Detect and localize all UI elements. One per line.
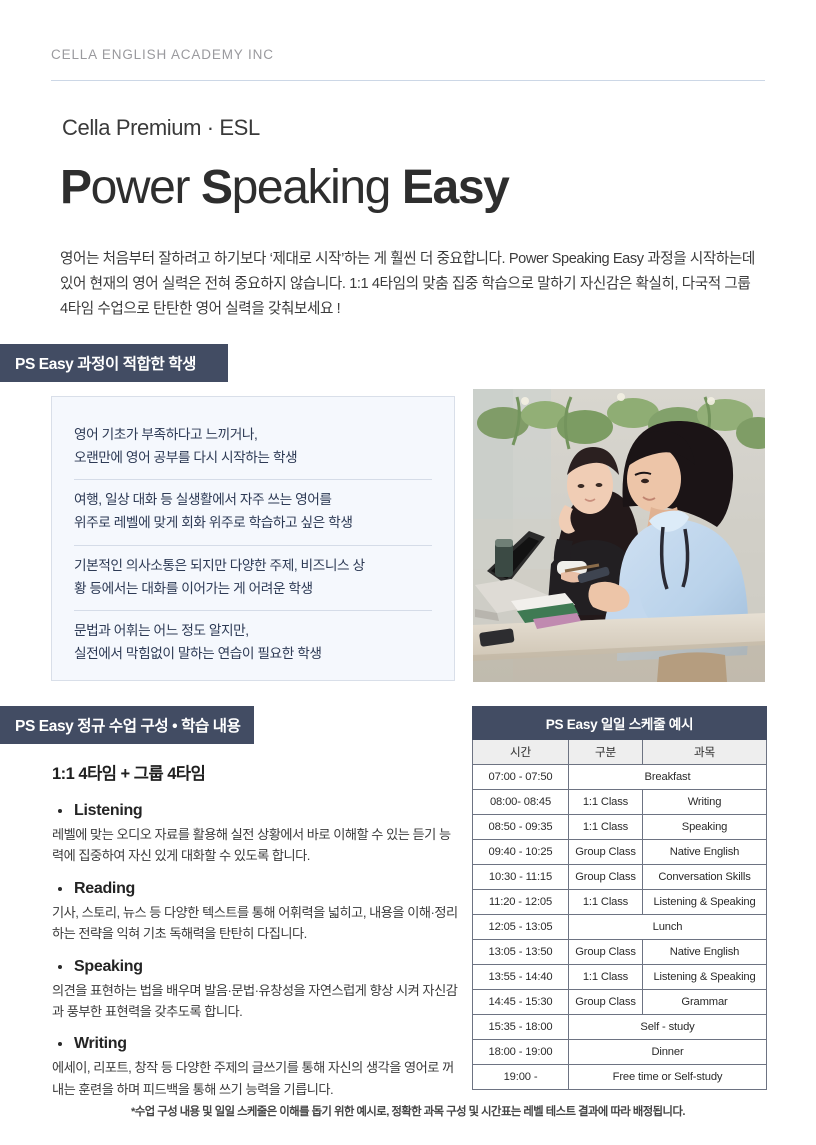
cell-type: 1:1 Class (569, 965, 643, 990)
bullet-icon (58, 1042, 62, 1046)
course-eyebrow: Cella Premium · ESL (62, 115, 260, 141)
title-letter-s: S (201, 161, 232, 214)
cell-type: Group Class (569, 940, 643, 965)
table-row: 10:30 - 11:15Group ClassConversation Ski… (473, 865, 767, 890)
cell-type: Group Class (569, 840, 643, 865)
cell-subject: Conversation Skills (643, 865, 767, 890)
footnote: *수업 구성 내용 및 일일 스케줄은 이해를 돕기 위한 예시로, 정확한 과… (0, 1103, 816, 1119)
section-banner-label: PS Easy 정규 수업 구성 • 학습 내용 (15, 714, 240, 736)
curriculum-heading: 1:1 4타임 + 그룹 4타임 (52, 760, 462, 784)
title-ower: ower (91, 161, 201, 214)
bullet-icon (58, 965, 62, 969)
cell-time: 15:35 - 18:00 (473, 1015, 569, 1040)
skill-title-label: Listening (74, 802, 142, 819)
cell-subject: Native English (643, 940, 767, 965)
cell-type: 1:1 Class (569, 890, 643, 915)
skill-title-label: Writing (74, 1035, 127, 1052)
cell-time: 12:05 - 13:05 (473, 915, 569, 940)
table-row: 13:55 - 14:401:1 ClassListening & Speaki… (473, 965, 767, 990)
column-header-time: 시간 (473, 740, 569, 765)
list-item: 여행, 일상 대화 등 실생활에서 자주 쓰는 영어를 위주로 레벨에 맞게 회… (74, 479, 432, 544)
cell-time: 08:50 - 09:35 (473, 815, 569, 840)
schedule-title: PS Easy 일일 스케줄 예시 (473, 707, 767, 740)
table-row: 18:00 - 19:00Dinner (473, 1040, 767, 1065)
list-item: 문법과 어휘는 어느 정도 알지만, 실전에서 막힘없이 말하는 연습이 필요한… (74, 610, 432, 675)
skill-block-speaking: Speaking 의견을 표현하는 법을 배우며 발음·문법·유창성을 자연스럽… (52, 958, 462, 1023)
table-row: 07:00 - 07:50Breakfast (473, 765, 767, 790)
cell-subject: Listening & Speaking (643, 965, 767, 990)
table-row: 08:00- 08:451:1 ClassWriting (473, 790, 767, 815)
skill-description: 의견을 표현하는 법을 배우며 발음·문법·유창성을 자연스럽게 향상 시켜 자… (52, 980, 462, 1023)
table-row: 15:35 - 18:00Self - study (473, 1015, 767, 1040)
cell-time: 07:00 - 07:50 (473, 765, 569, 790)
skill-block-listening: Listening 레벨에 맞는 오디오 자료를 활용해 실전 상황에서 바로 … (52, 802, 462, 867)
table-row: 13:05 - 13:50Group ClassNative English (473, 940, 767, 965)
skill-title-label: Speaking (74, 958, 143, 975)
cell-time: 14:45 - 15:30 (473, 990, 569, 1015)
cell-subject: Native English (643, 840, 767, 865)
cell-subject: Free time or Self-study (569, 1065, 767, 1090)
skill-title: Speaking (52, 958, 462, 976)
table-row: 14:45 - 15:30Group ClassGrammar (473, 990, 767, 1015)
skill-title: Reading (52, 880, 462, 898)
cell-time: 13:55 - 14:40 (473, 965, 569, 990)
intro-paragraph: 영어는 처음부터 잘하려고 하기보다 ‘제대로 시작’하는 게 훨씬 더 중요합… (60, 247, 760, 322)
table-row: 08:50 - 09:351:1 ClassSpeaking (473, 815, 767, 840)
cell-time: 08:00- 08:45 (473, 790, 569, 815)
cell-type: 1:1 Class (569, 815, 643, 840)
cell-subject: Listening & Speaking (643, 890, 767, 915)
cell-type: Group Class (569, 990, 643, 1015)
cell-subject: Breakfast (569, 765, 767, 790)
cell-time: 11:20 - 12:05 (473, 890, 569, 915)
table-row: 19:00 -Free time or Self-study (473, 1065, 767, 1090)
cell-subject: Writing (643, 790, 767, 815)
section-banner-curriculum: PS Easy 정규 수업 구성 • 학습 내용 (0, 706, 254, 744)
cell-subject: Dinner (569, 1040, 767, 1065)
section-banner-target-students: PS Easy 과정이 적합한 학생 (0, 344, 228, 382)
table-row: 09:40 - 10:25Group ClassNative English (473, 840, 767, 865)
skill-title: Writing (52, 1035, 462, 1053)
skill-description: 기사, 스토리, 뉴스 등 다양한 텍스트를 통해 어휘력을 넓히고, 내용을 … (52, 902, 462, 945)
cell-subject: Self - study (569, 1015, 767, 1040)
cell-subject: Lunch (569, 915, 767, 940)
target-students-box: 영어 기초가 부족하다고 느끼거나, 오랜만에 영어 공부를 다시 시작하는 학… (51, 396, 455, 681)
cell-type: 1:1 Class (569, 790, 643, 815)
bullet-icon (58, 887, 62, 891)
title-letter-p: P (60, 161, 91, 214)
title-peaking: peaking (232, 161, 402, 214)
skill-title-label: Reading (74, 880, 135, 897)
skill-title: Listening (52, 802, 462, 820)
table-row: 12:05 - 13:05Lunch (473, 915, 767, 940)
list-item: 기본적인 의사소통은 되지만 다양한 주제, 비즈니스 상 황 등에서는 대화를… (74, 545, 432, 610)
cell-time: 13:05 - 13:50 (473, 940, 569, 965)
cell-subject: Speaking (643, 815, 767, 840)
brand-name: CELLA ENGLISH ACADEMY INC (51, 47, 274, 62)
column-header-subject: 과목 (643, 740, 767, 765)
daily-schedule-table: PS Easy 일일 스케줄 예시 시간 구분 과목 07:00 - 07:50… (472, 706, 767, 1090)
table-row: 11:20 - 12:051:1 ClassListening & Speaki… (473, 890, 767, 915)
cell-subject: Grammar (643, 990, 767, 1015)
skill-description: 에세이, 리포트, 창작 등 다양한 주제의 글쓰기를 통해 자신의 생각을 영… (52, 1057, 462, 1100)
skill-block-reading: Reading 기사, 스토리, 뉴스 등 다양한 텍스트를 통해 어휘력을 넓… (52, 880, 462, 945)
skill-block-writing: Writing 에세이, 리포트, 창작 등 다양한 주제의 글쓰기를 통해 자… (52, 1035, 462, 1100)
cell-time: 19:00 - (473, 1065, 569, 1090)
table-header-row: 시간 구분 과목 (473, 740, 767, 765)
title-easy: Easy (402, 161, 509, 214)
header-divider (51, 80, 765, 81)
section-banner-label: PS Easy 과정이 적합한 학생 (15, 352, 196, 374)
schedule-table-body: 07:00 - 07:50Breakfast08:00- 08:451:1 Cl… (473, 765, 767, 1090)
list-item: 영어 기초가 부족하다고 느끼거나, 오랜만에 영어 공부를 다시 시작하는 학… (74, 415, 432, 479)
page-title: Power Speaking Easy (60, 162, 508, 215)
cell-type: Group Class (569, 865, 643, 890)
cell-time: 09:40 - 10:25 (473, 840, 569, 865)
cell-time: 10:30 - 11:15 (473, 865, 569, 890)
bullet-icon (58, 809, 62, 813)
table-title-row: PS Easy 일일 스케줄 예시 (473, 707, 767, 740)
curriculum-section: 1:1 4타임 + 그룹 4타임 Listening 레벨에 맞는 오디오 자료… (52, 760, 462, 1113)
skill-description: 레벨에 맞는 오디오 자료를 활용해 실전 상황에서 바로 이해할 수 있는 듣… (52, 824, 462, 867)
column-header-type: 구분 (569, 740, 643, 765)
students-studying-photo (473, 389, 765, 682)
cell-time: 18:00 - 19:00 (473, 1040, 569, 1065)
